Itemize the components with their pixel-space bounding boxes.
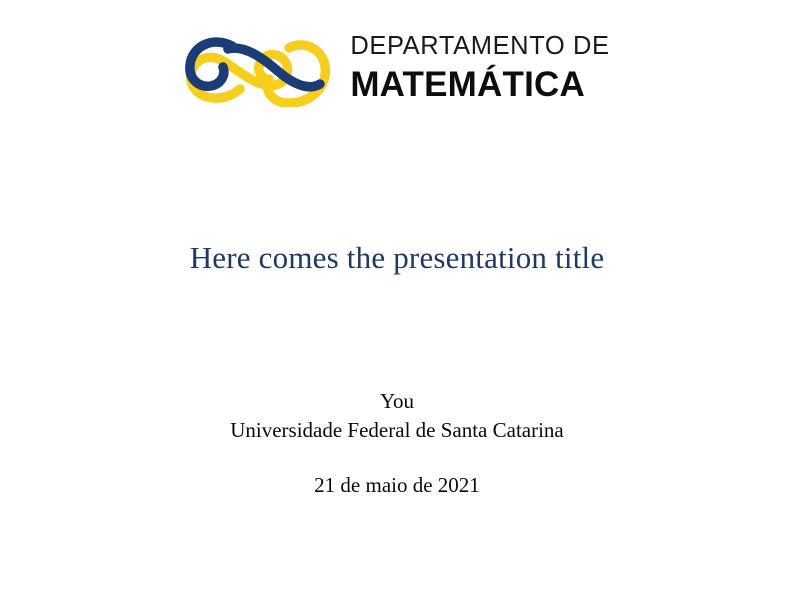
title-block: Here comes the presentation title [0, 240, 794, 276]
logo-wordmark: DEPARTAMENTO DE MATEMÁTICA [350, 34, 609, 102]
author-name: You [0, 388, 794, 415]
author-block: You Universidade Federal de Santa Catari… [0, 388, 794, 444]
presentation-title-slide: DEPARTAMENTO DE MATEMÁTICA Here comes th… [0, 0, 794, 596]
institution-logo-block: DEPARTAMENTO DE MATEMÁTICA [0, 22, 794, 114]
infinity-lemniscate-logo-icon [184, 29, 332, 107]
author-institute: Universidade Federal de Santa Catarina [0, 417, 794, 444]
wordmark-department-line: DEPARTAMENTO DE [350, 34, 609, 60]
date-block: 21 de maio de 2021 [0, 472, 794, 499]
wordmark-subject-line: MATEMÁTICA [350, 67, 609, 102]
page-title: Here comes the presentation title [0, 240, 794, 276]
presentation-date: 21 de maio de 2021 [0, 472, 794, 499]
